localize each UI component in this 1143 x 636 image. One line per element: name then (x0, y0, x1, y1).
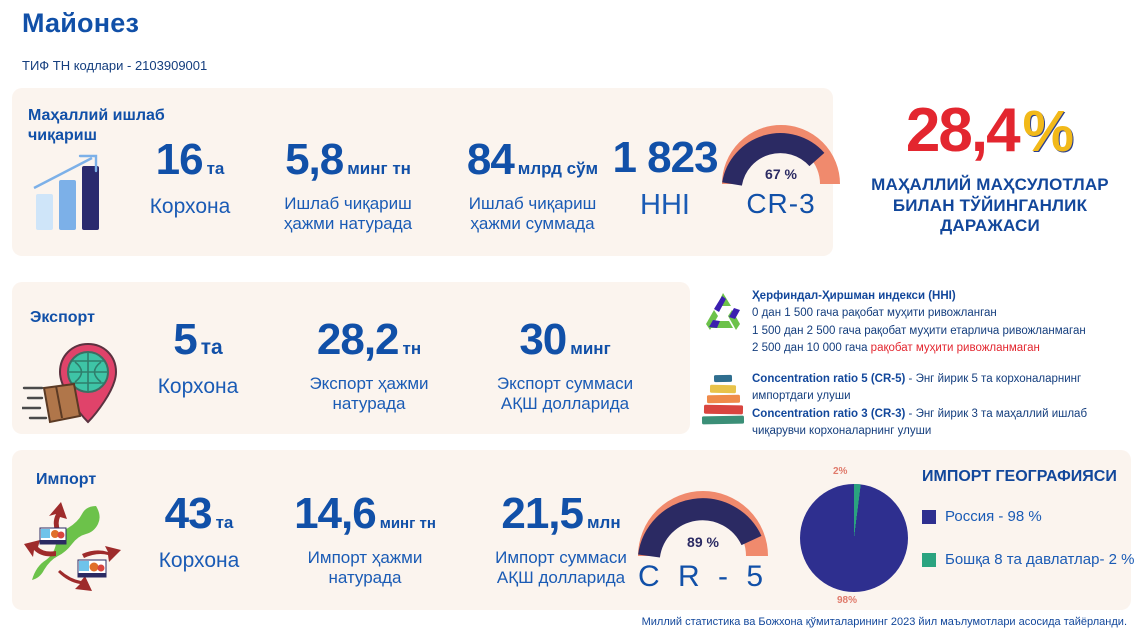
infographic-page: Майонез ТИФ ТН кодлари - 2103909001 Маҳа… (0, 0, 1143, 636)
cr3-gauge-value: 67 % (722, 166, 840, 182)
cr3-gauge-label: CR-3 (722, 188, 840, 220)
import-sum-value: 21,5 (501, 492, 583, 536)
hhi-legend-line2: 1 500 дан 2 500 гача рақобат муҳити етар… (752, 323, 1086, 340)
import-enterprises-value: 43 (165, 492, 212, 536)
import-enterprises-caption: Корхона (124, 548, 274, 573)
import-volume-unit: минг тн (380, 515, 436, 532)
legend-item-others: Бошқа 8 та давлатлар- 2 % (922, 551, 1135, 568)
import-stat-volume: 14,6 минг тн Импорт ҳажми натурада (270, 492, 460, 589)
hhi-legend-text: Ҳерфиндал-Ҳиршман индекси (HHI) 0 дан 1 … (752, 288, 1086, 357)
legend-label-others: Бошқа 8 та давлатлар- 2 % (945, 551, 1135, 568)
hhi-legend-block: Ҳерфиндал-Ҳиршман индекси (HHI) 0 дан 1 … (700, 288, 1140, 357)
production-volume-value: 5,8 (285, 138, 343, 182)
production-volume-unit: минг тн (347, 159, 411, 179)
map-arrows-ships-icon (22, 498, 134, 598)
saturation-percent-symbol: % (1023, 99, 1075, 164)
pie-label-russia: 98% (837, 595, 857, 606)
saturation-block: 28,4% МАҲАЛЛИЙ МАҲСУЛОТЛАР БИЛАН ТЎЙИНГА… (845, 98, 1135, 237)
cr3-gauge: 67 % (722, 124, 840, 186)
cr-legend-text: Concentration ratio 5 (CR-5) - Энг йирик… (752, 371, 1140, 440)
hhi-legend-line3-prefix: 2 500 дан 10 000 гача (752, 342, 871, 354)
export-volume-caption: Экспорт ҳажми натурада (274, 374, 464, 415)
cr-legend-block: Concentration ratio 5 (CR-5) - Энг йирик… (700, 371, 1140, 440)
stacked-bars-icon (700, 371, 752, 430)
import-sum-unit: млн (587, 513, 621, 533)
production-sum-value: 84 (467, 138, 514, 182)
production-stat-volume-sum: 84 млрд сўм Ишлаб чиқариш ҳажми суммада (440, 138, 625, 235)
page-title: Майонез (22, 8, 139, 39)
production-enterprises-unit: та (207, 159, 225, 179)
legend-item-russia: Россия - 98 % (922, 508, 1135, 525)
export-sum-caption: Экспорт суммаси АҚШ долларида (470, 374, 660, 415)
export-enterprises-unit: та (201, 336, 223, 360)
saturation-caption: МАҲАЛЛИЙ МАҲСУЛОТЛАР БИЛАН ТЎЙИНГАНЛИК Д… (845, 175, 1135, 237)
footer-note: Миллий статистика ва Божхона қўмиталарин… (0, 616, 1127, 628)
hhi-legend-title: Ҳерфиндал-Ҳиршман индекси (HHI) (752, 288, 1086, 305)
production-sum-caption: Ишлаб чиқариш ҳажми суммада (440, 194, 625, 235)
production-hhi-value: 1 823 (612, 136, 717, 180)
page-subtitle: ТИФ ТН кодлари - 2103909001 (22, 58, 207, 73)
legend-swatch-others (922, 553, 936, 567)
hhi-legend-line3-red: рақобат муҳити ривожланмаган (871, 342, 1040, 354)
production-volume-caption: Ишлаб чиқариш ҳажми натурада (258, 194, 438, 235)
import-stat-enterprises: 43 та Корхона (124, 492, 274, 573)
cr3-legend-title: Concentration ratio 3 (CR-3) (752, 408, 905, 420)
export-stat-volume: 28,2 тн Экспорт ҳажми натурада (274, 318, 464, 415)
recycle-icon (700, 288, 752, 337)
cr3-gauge-block: 67 % CR-3 (722, 124, 840, 220)
export-enterprises-value: 5 (173, 318, 196, 362)
index-legend-panel: Ҳерфиндал-Ҳиршман индекси (HHI) 0 дан 1 … (700, 288, 1140, 454)
production-stat-enterprises: 16 та Корхона (120, 138, 260, 219)
cr5-gauge-label: C R - 5 (638, 560, 768, 594)
hhi-legend-line3: 2 500 дан 10 000 гача рақобат муҳити рив… (752, 340, 1086, 357)
production-stat-volume-natural: 5,8 минг тн Ишлаб чиқариш ҳажми натурада (258, 138, 438, 235)
import-section-label: Импорт (36, 470, 96, 490)
import-enterprises-unit: та (216, 513, 234, 533)
export-enterprises-caption: Корхона (128, 374, 268, 399)
cr5-gauge: 89 % (638, 490, 768, 558)
import-volume-value: 14,6 (294, 492, 376, 536)
legend-label-russia: Россия - 98 % (945, 508, 1042, 525)
production-enterprises-caption: Корхона (120, 194, 260, 219)
import-volume-caption: Импорт ҳажми натурада (270, 548, 460, 589)
hhi-legend-line1: 0 дан 1 500 гача рақобат муҳити ривожлан… (752, 305, 1086, 322)
globe-pin-parcel-icon (22, 336, 132, 428)
import-sum-caption: Импорт суммаси АҚШ долларида (466, 548, 656, 589)
legend-swatch-russia (922, 510, 936, 524)
bar-chart-growth-icon (30, 152, 110, 232)
export-section-label: Экспорт (30, 308, 95, 328)
saturation-value: 28,4 (906, 96, 1019, 165)
pie-label-other: 2% (833, 466, 847, 477)
export-stat-sum: 30 минг Экспорт суммаси АҚШ долларида (470, 318, 660, 415)
cr5-gauge-block: 89 % C R - 5 (638, 490, 768, 594)
export-volume-value: 28,2 (317, 318, 399, 362)
import-geography-title: ИМПОРТ ГЕОГРАФИЯСИ (922, 468, 1117, 486)
production-hhi-caption: HHI (600, 188, 730, 223)
cr3-legend-line: Concentration ratio 3 (CR-3) - Энг йирик… (752, 406, 1140, 441)
production-sum-unit: млрд сўм (518, 159, 598, 179)
export-sum-value: 30 (519, 318, 566, 362)
import-geography-legend: Россия - 98 % Бошқа 8 та давлатлар- 2 % (922, 508, 1135, 594)
production-enterprises-value: 16 (156, 138, 203, 182)
cr5-gauge-value: 89 % (638, 534, 768, 550)
import-geography-pie-other-slice (800, 484, 908, 592)
cr5-legend-line: Concentration ratio 5 (CR-5) - Энг йирик… (752, 371, 1140, 406)
export-stat-enterprises: 5 та Корхона (128, 318, 268, 399)
cr5-legend-title: Concentration ratio 5 (CR-5) (752, 373, 905, 385)
export-sum-unit: минг (570, 339, 610, 359)
import-stat-sum: 21,5 млн Импорт суммаси АҚШ долларида (466, 492, 656, 589)
import-geography-block: 2% 98% ИМПОРТ ГЕОГРАФИЯСИ Россия - 98 % … (790, 462, 1135, 602)
export-volume-unit: тн (403, 339, 422, 359)
production-stat-hhi: 1 823 HHI (600, 136, 730, 223)
